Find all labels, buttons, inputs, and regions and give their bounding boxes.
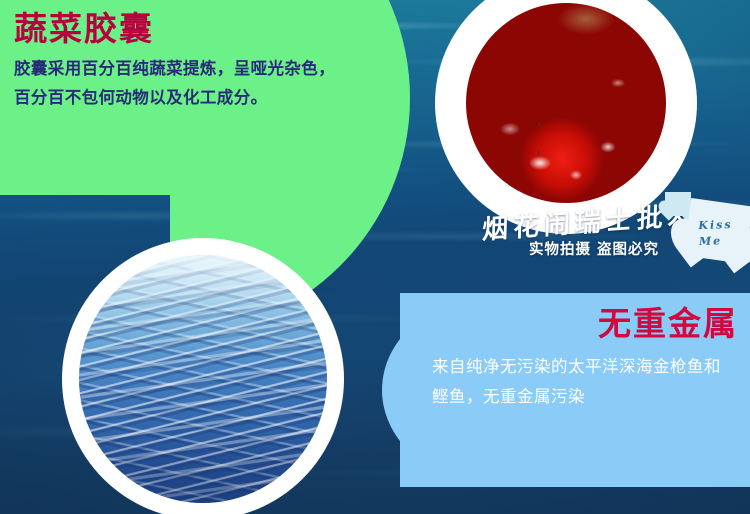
fish-photo — [79, 255, 327, 503]
small-heart-icon — [665, 192, 691, 216]
vegetable-photo — [466, 3, 666, 203]
tomato-stem-detail — [538, 123, 622, 155]
vegetable-title: 蔬菜胶囊 — [14, 8, 344, 49]
heavy-metal-description: 来自纯净无污染的太平洋深海金枪鱼和鲣鱼，无重金属污染 — [432, 352, 734, 411]
heavy-metal-text-block: 无重金属 来自纯净无污染的太平洋深海金枪鱼和鲣鱼，无重金属污染 — [432, 303, 738, 411]
kiss-me-label: KissMe — [698, 217, 743, 250]
watermark-subtitle: 实物拍摄 盗图必究 — [529, 238, 659, 259]
kiss-me-heart-icon: KissMe — [683, 198, 750, 264]
vegetable-description: 胶囊采用百分百纯蔬菜提炼，呈哑光杂色，百分百不包何动物以及化工成分。 — [14, 55, 340, 112]
fish-photo-depth-gradient — [79, 255, 327, 503]
vegetable-text-block: 蔬菜胶囊 胶囊采用百分百纯蔬菜提炼，呈哑光杂色，百分百不包何动物以及化工成分。 — [14, 8, 344, 112]
product-banner-page: 蔬菜胶囊 胶囊采用百分百纯蔬菜提炼，呈哑光杂色，百分百不包何动物以及化工成分。 … — [0, 0, 750, 514]
watermark: 烟花闹瑞士批发 实物拍摄 盗图必究 KissMe — [482, 196, 750, 274]
vegetable-photo-highlights — [466, 3, 666, 203]
heavy-metal-title: 无重金属 — [432, 303, 738, 344]
fish-photo-circle — [62, 238, 344, 514]
